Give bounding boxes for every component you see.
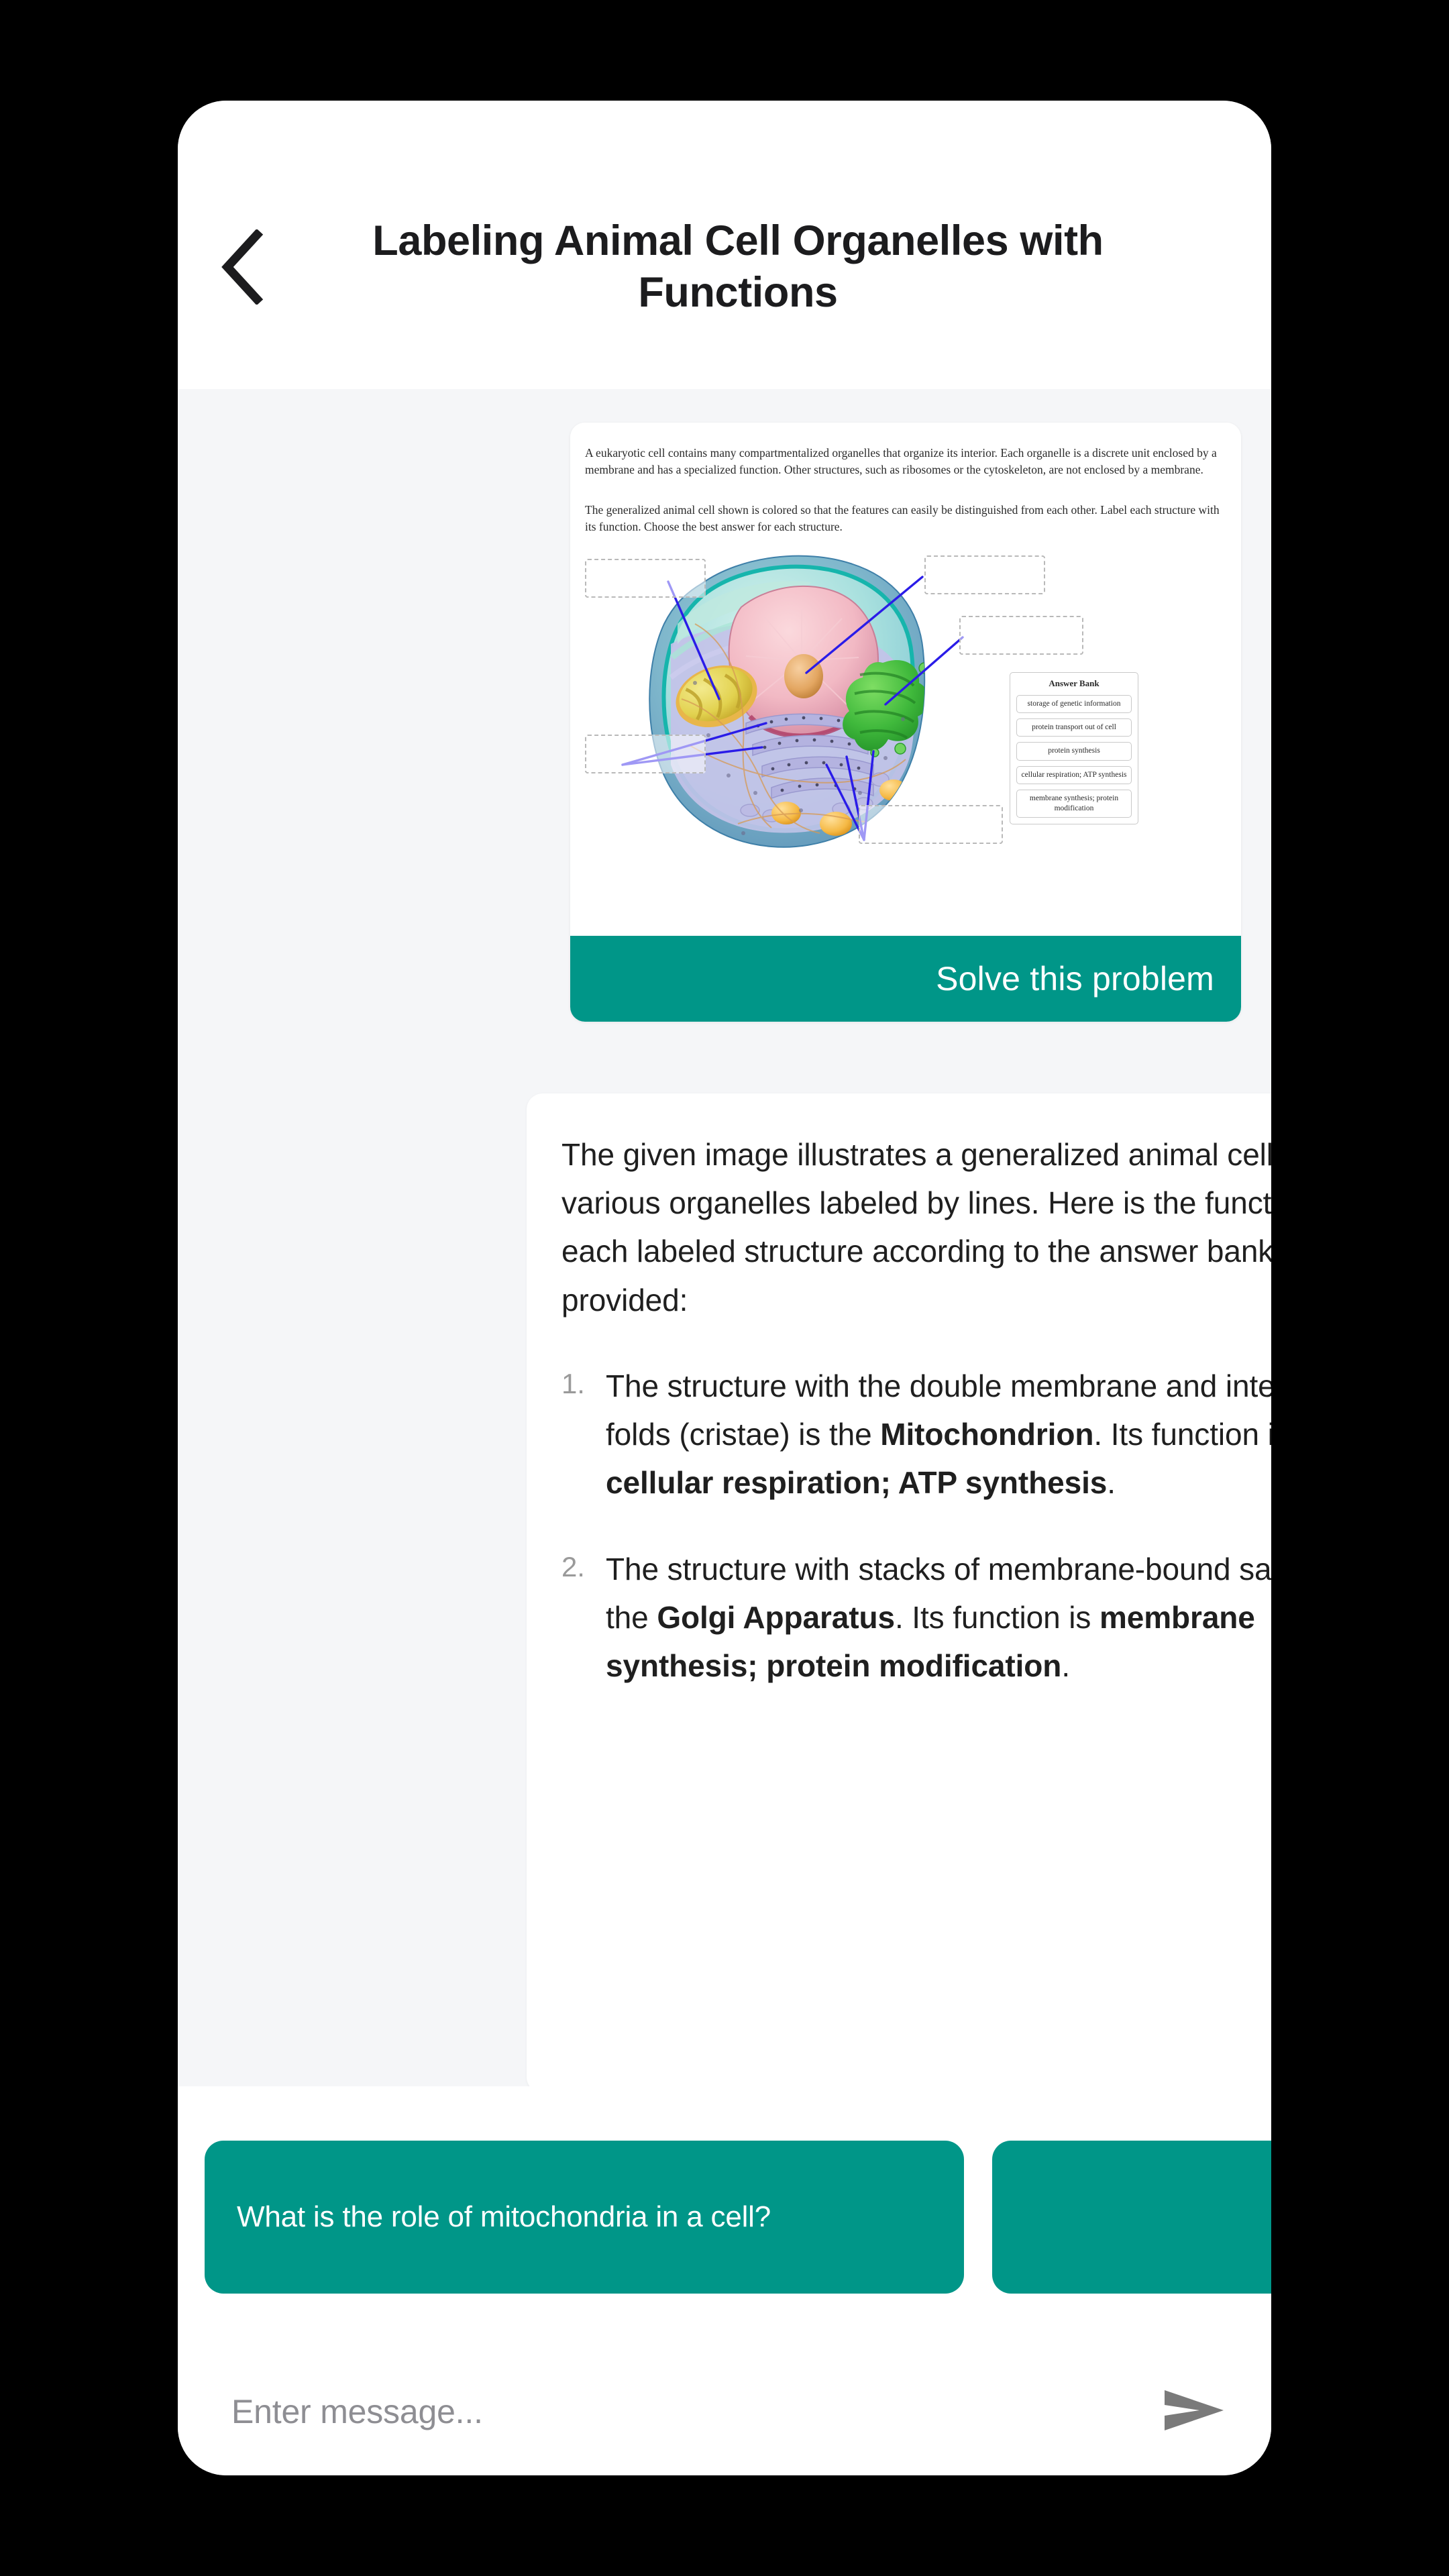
back-button[interactable] — [198, 223, 285, 311]
suggestion-chip-label: What is the role of mitochondria in a ce… — [237, 2200, 771, 2234]
suggestions-scroll-row[interactable]: What is the role of mitochondria in a ce… — [178, 2086, 1271, 2348]
answer-list-item-1: 1. The structure with the double membran… — [561, 1362, 1271, 1507]
answer-item-text-part-2: . Its function is — [895, 1600, 1099, 1635]
message-input-bar — [178, 2348, 1271, 2475]
answer-item-number: 2. — [561, 1545, 585, 1589]
chat-scroll-area[interactable]: A eukaryotic cell contains many compartm… — [178, 389, 1271, 2086]
answer-item-bold-organelle: Mitochondrion — [880, 1417, 1093, 1452]
answer-bank-title: Answer Bank — [1016, 678, 1132, 689]
drop-zone-4[interactable] — [585, 735, 706, 773]
answer-bank: Answer Bank storage of genetic informati… — [1010, 672, 1138, 824]
drop-zone-1[interactable] — [585, 559, 706, 598]
answer-bank-option-3[interactable]: protein synthesis — [1016, 742, 1132, 760]
solve-button-label: Solve this problem — [936, 959, 1214, 998]
answer-list: 1. The structure with the double membran… — [561, 1362, 1271, 1690]
answer-item-bold-organelle: Golgi Apparatus — [657, 1600, 895, 1635]
send-button[interactable] — [1157, 2375, 1231, 2449]
page-title: Labeling Animal Cell Organelles with Fun… — [285, 215, 1244, 319]
suggestions-bar: What is the role of mitochondria in a ce… — [178, 2086, 1271, 2348]
answer-bank-option-5[interactable]: membrane synthesis; protein modification — [1016, 790, 1132, 818]
chevron-left-icon — [218, 229, 265, 305]
answer-item-text-part-3: . — [1061, 1648, 1070, 1683]
suggestion-chip-2[interactable] — [992, 2141, 1271, 2294]
answer-intro-text: The given image illustrates a generalize… — [561, 1130, 1271, 1324]
answer-item-number: 1. — [561, 1362, 585, 1406]
problem-card[interactable]: A eukaryotic cell contains many compartm… — [570, 423, 1241, 1022]
answer-item-bold-function: cellular respiration; ATP synthesis — [606, 1465, 1107, 1500]
phone-frame: Labeling Animal Cell Organelles with Fun… — [178, 101, 1271, 2475]
suggestion-chip-1[interactable]: What is the role of mitochondria in a ce… — [205, 2141, 964, 2294]
problem-instruction-paragraph-2: The generalized animal cell shown is col… — [585, 502, 1228, 535]
app-header: Labeling Animal Cell Organelles with Fun… — [178, 101, 1271, 389]
assistant-answer-card: The given image illustrates a generalize… — [527, 1093, 1271, 2086]
solve-this-problem-button[interactable]: Solve this problem — [570, 936, 1241, 1022]
drop-zone-2[interactable] — [924, 555, 1045, 594]
send-paper-plane-icon — [1162, 2386, 1226, 2438]
drop-zone-5[interactable] — [859, 805, 1003, 844]
problem-instruction-paragraph-1: A eukaryotic cell contains many compartm… — [585, 445, 1228, 478]
problem-image: A eukaryotic cell contains many compartm… — [570, 423, 1241, 936]
drop-zone-3[interactable] — [959, 616, 1083, 655]
answer-bank-option-1[interactable]: storage of genetic information — [1016, 695, 1132, 713]
answer-item-text-part-3: . — [1107, 1465, 1116, 1500]
answer-bank-option-2[interactable]: protein transport out of cell — [1016, 718, 1132, 737]
answer-list-item-2: 2. The structure with stacks of membrane… — [561, 1545, 1271, 1690]
message-input[interactable] — [231, 2392, 1157, 2431]
animal-cell-diagram: Answer Bank storage of genetic informati… — [570, 543, 1241, 936]
answer-bank-option-4[interactable]: cellular respiration; ATP synthesis — [1016, 766, 1132, 784]
answer-item-text-part-2: . Its function is — [1093, 1417, 1271, 1452]
